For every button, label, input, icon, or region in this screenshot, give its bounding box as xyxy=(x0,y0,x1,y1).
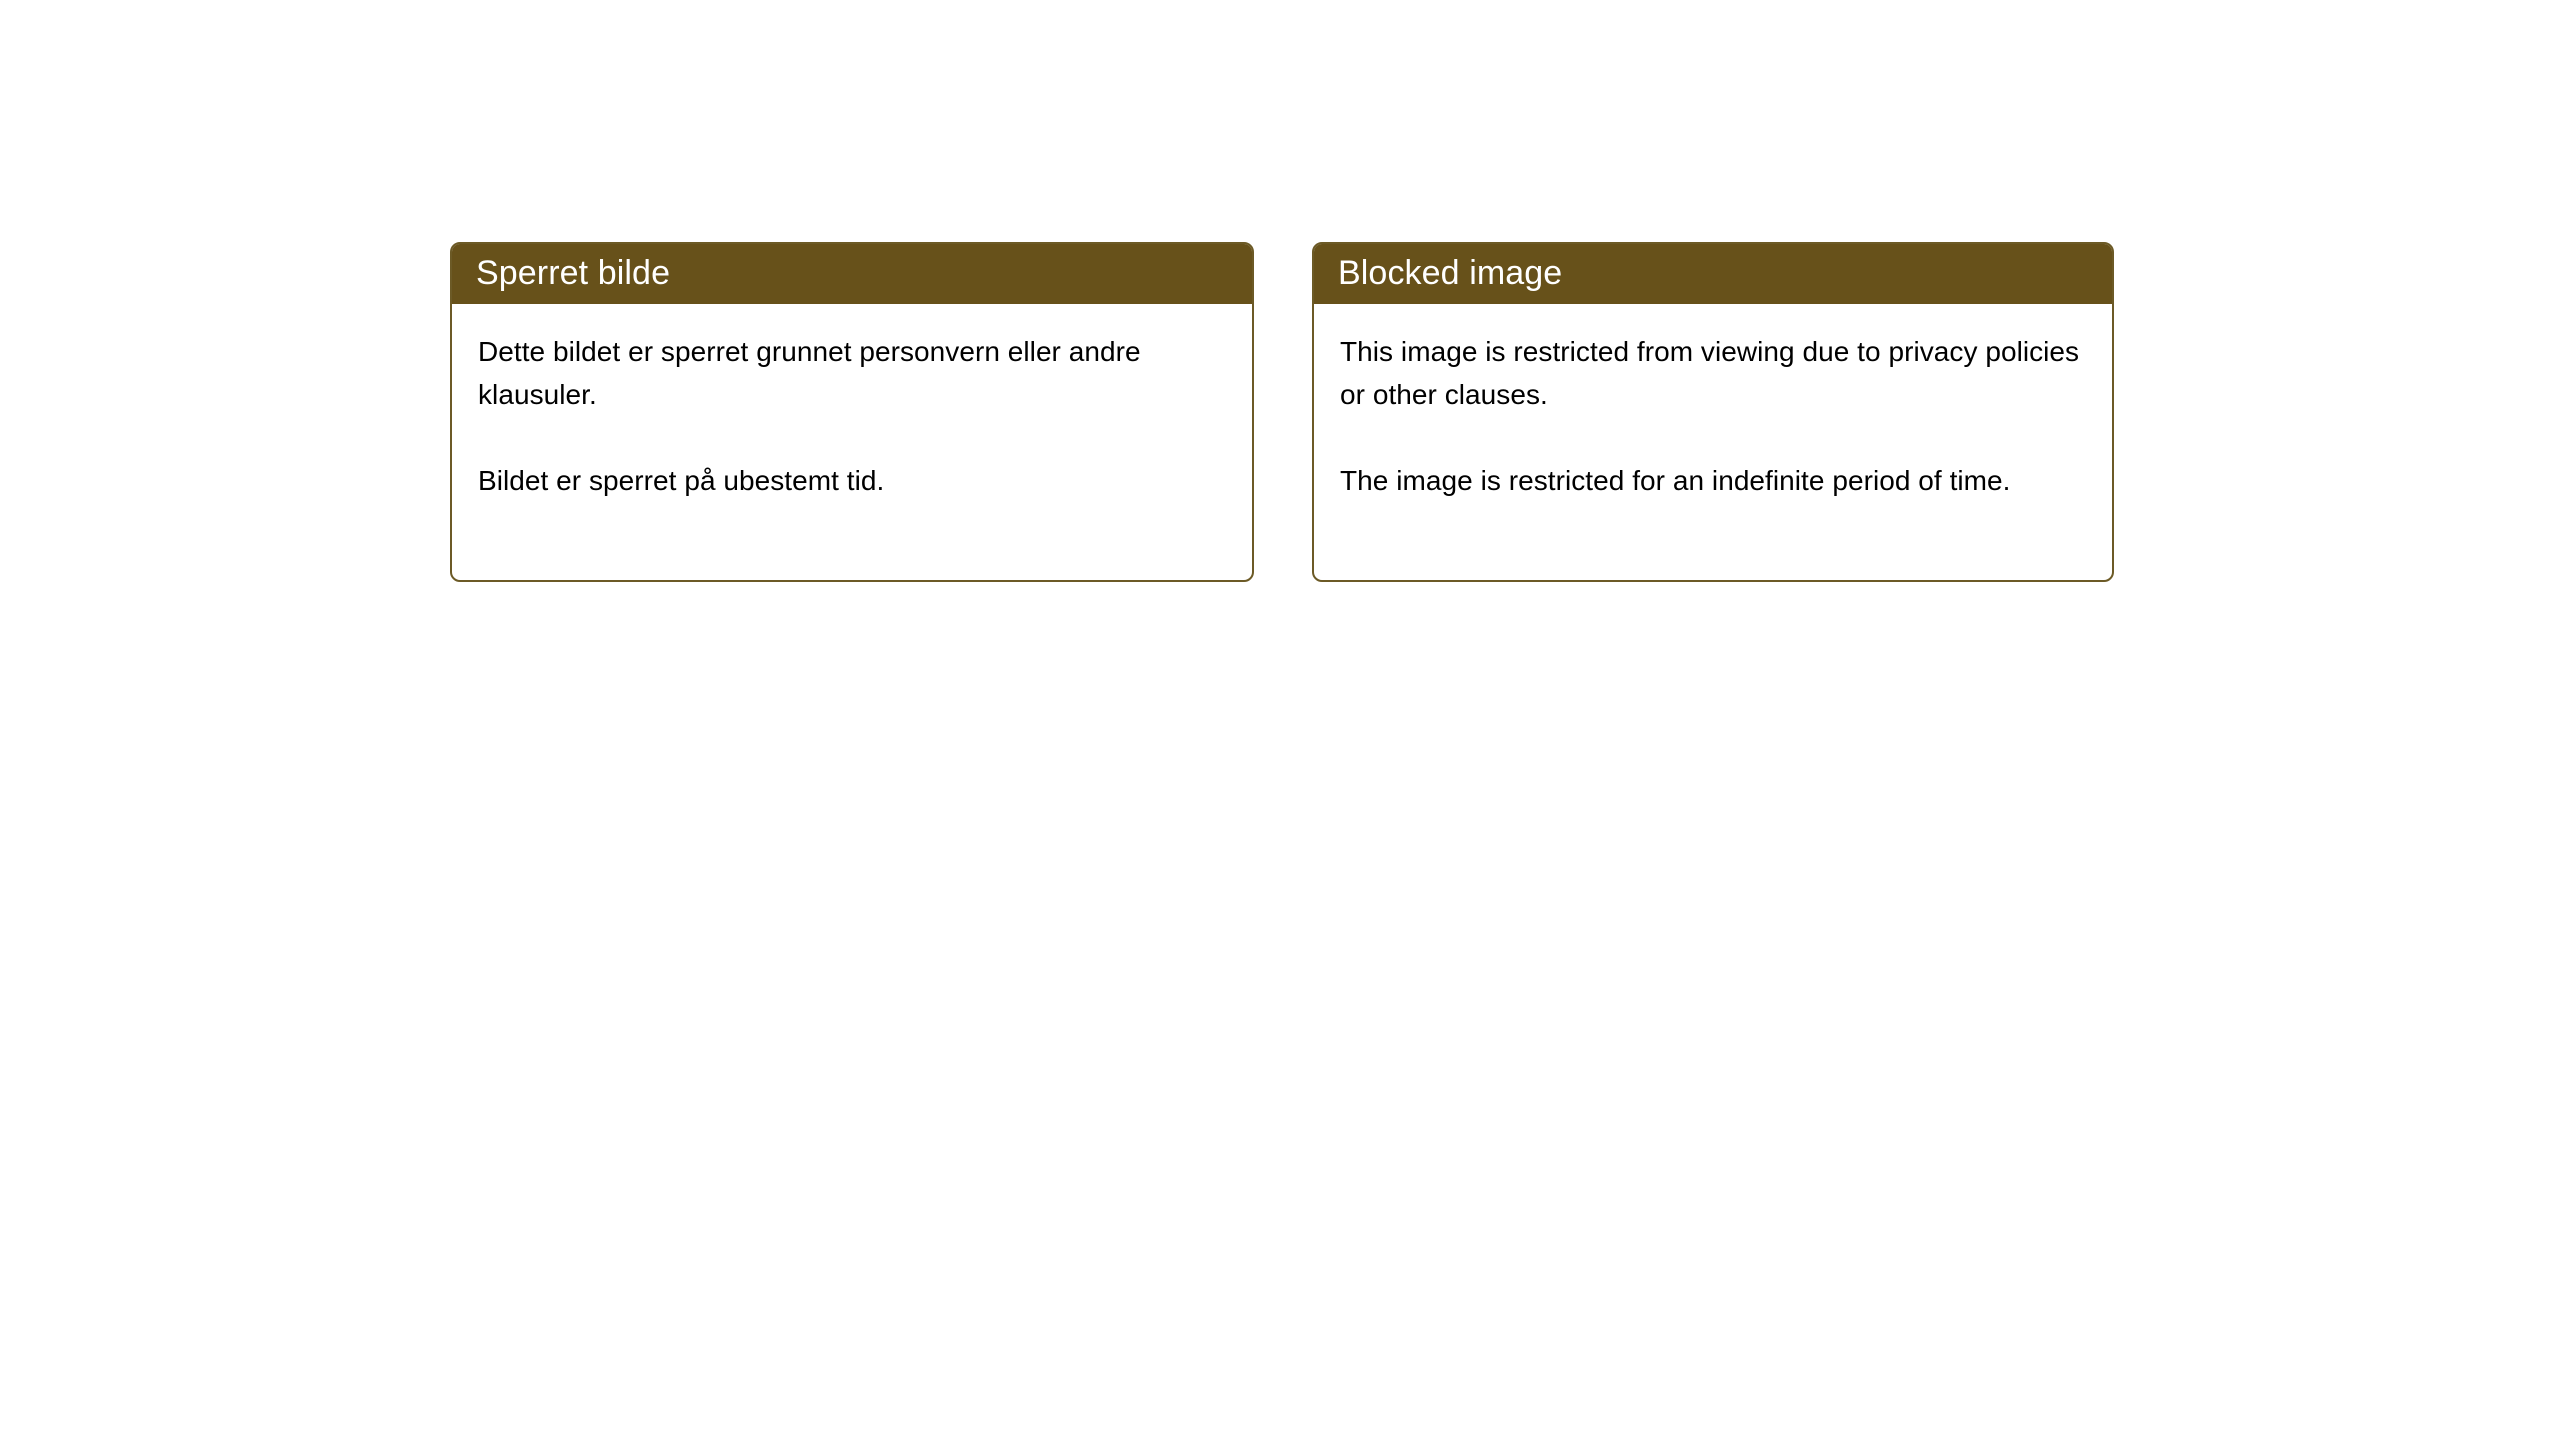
blocked-image-card-norwegian: Sperret bilde Dette bildet er sperret gr… xyxy=(450,242,1254,582)
card-paragraph-reason-english: This image is restricted from viewing du… xyxy=(1340,330,2088,416)
card-title-norwegian: Sperret bilde xyxy=(476,256,670,290)
card-paragraph-duration-norwegian: Bildet er sperret på ubestemt tid. xyxy=(478,459,1228,502)
card-title-english: Blocked image xyxy=(1338,256,1562,290)
card-paragraph-reason-norwegian: Dette bildet er sperret grunnet personve… xyxy=(478,330,1228,416)
blocked-image-card-english: Blocked image This image is restricted f… xyxy=(1312,242,2114,582)
card-paragraph-duration-english: The image is restricted for an indefinit… xyxy=(1340,459,2088,502)
card-body-norwegian: Dette bildet er sperret grunnet personve… xyxy=(452,304,1252,502)
card-header-norwegian: Sperret bilde xyxy=(450,242,1254,304)
card-body-english: This image is restricted from viewing du… xyxy=(1314,304,2112,502)
page-canvas: Sperret bilde Dette bildet er sperret gr… xyxy=(0,0,2560,1440)
card-header-english: Blocked image xyxy=(1312,242,2114,304)
